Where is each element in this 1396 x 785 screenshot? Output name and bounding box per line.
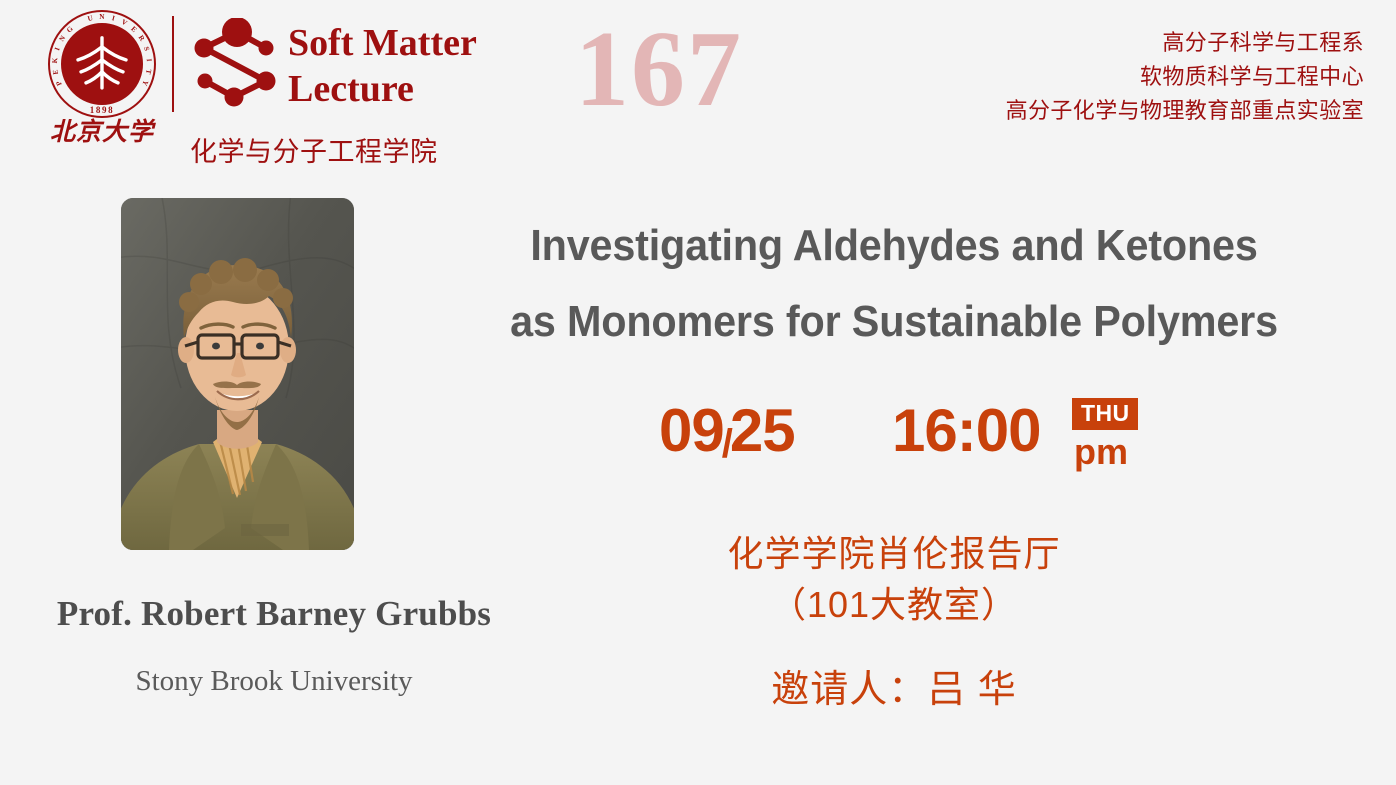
poster-header: PEKING UNIVERSITY 1898 北京大学 (0, 0, 1396, 170)
lecture-venue: 化学学院肖伦报告厅 （101大教室） (412, 528, 1376, 630)
lecture-host: 邀请人：吕 华 (412, 658, 1376, 713)
lecture-date: 09/25 (659, 396, 795, 465)
university-wordmark: 北京大学 (38, 120, 166, 145)
lecture-title: Investigating Aldehydes and Ketones as M… (441, 208, 1347, 359)
weekday-badge: THU (1072, 398, 1138, 430)
date-separator: / (722, 422, 732, 466)
lecture-time: 16:00 (892, 396, 1040, 465)
venue-line1: 化学学院肖伦报告厅 (412, 528, 1376, 579)
venue-line2: （101大教室） (412, 579, 1376, 630)
university-seal-icon: PEKING UNIVERSITY 1898 (48, 10, 156, 118)
department-name: 化学与分子工程学院 (190, 130, 438, 169)
series-title-line2: Lecture (288, 66, 477, 112)
lecture-series-title: Soft Matter Lecture (288, 20, 477, 113)
organizer-list: 高分子科学与工程系 软物质科学与工程中心 高分子化学与物理教育部重点实验室 (1006, 26, 1364, 128)
issue-number: 167 (575, 16, 743, 124)
series-title-line1: Soft Matter (288, 20, 477, 66)
seal-year: 1898 (48, 105, 156, 115)
peking-university-logo: PEKING UNIVERSITY 1898 北京大学 (38, 10, 166, 145)
speaker-photo (121, 198, 354, 550)
pku-emblem-icon (71, 35, 133, 91)
organizer-line: 高分子科学与工程系 (1006, 26, 1364, 60)
organizer-line: 软物质科学与工程中心 (1006, 60, 1364, 94)
header-divider (172, 16, 174, 112)
polymer-network-icon (190, 18, 282, 118)
date-day: 25 (730, 397, 795, 464)
lecture-title-line1: Investigating Aldehydes and Ketones (441, 208, 1347, 284)
organizer-line: 高分子化学与物理教育部重点实验室 (1006, 94, 1364, 128)
datetime-row: 09/25 16:00 THU pm (412, 396, 1376, 480)
lecture-title-line2: as Monomers for Sustainable Polymers (441, 284, 1347, 360)
date-month: 09 (659, 397, 724, 464)
meridiem-label: pm (1074, 434, 1128, 470)
